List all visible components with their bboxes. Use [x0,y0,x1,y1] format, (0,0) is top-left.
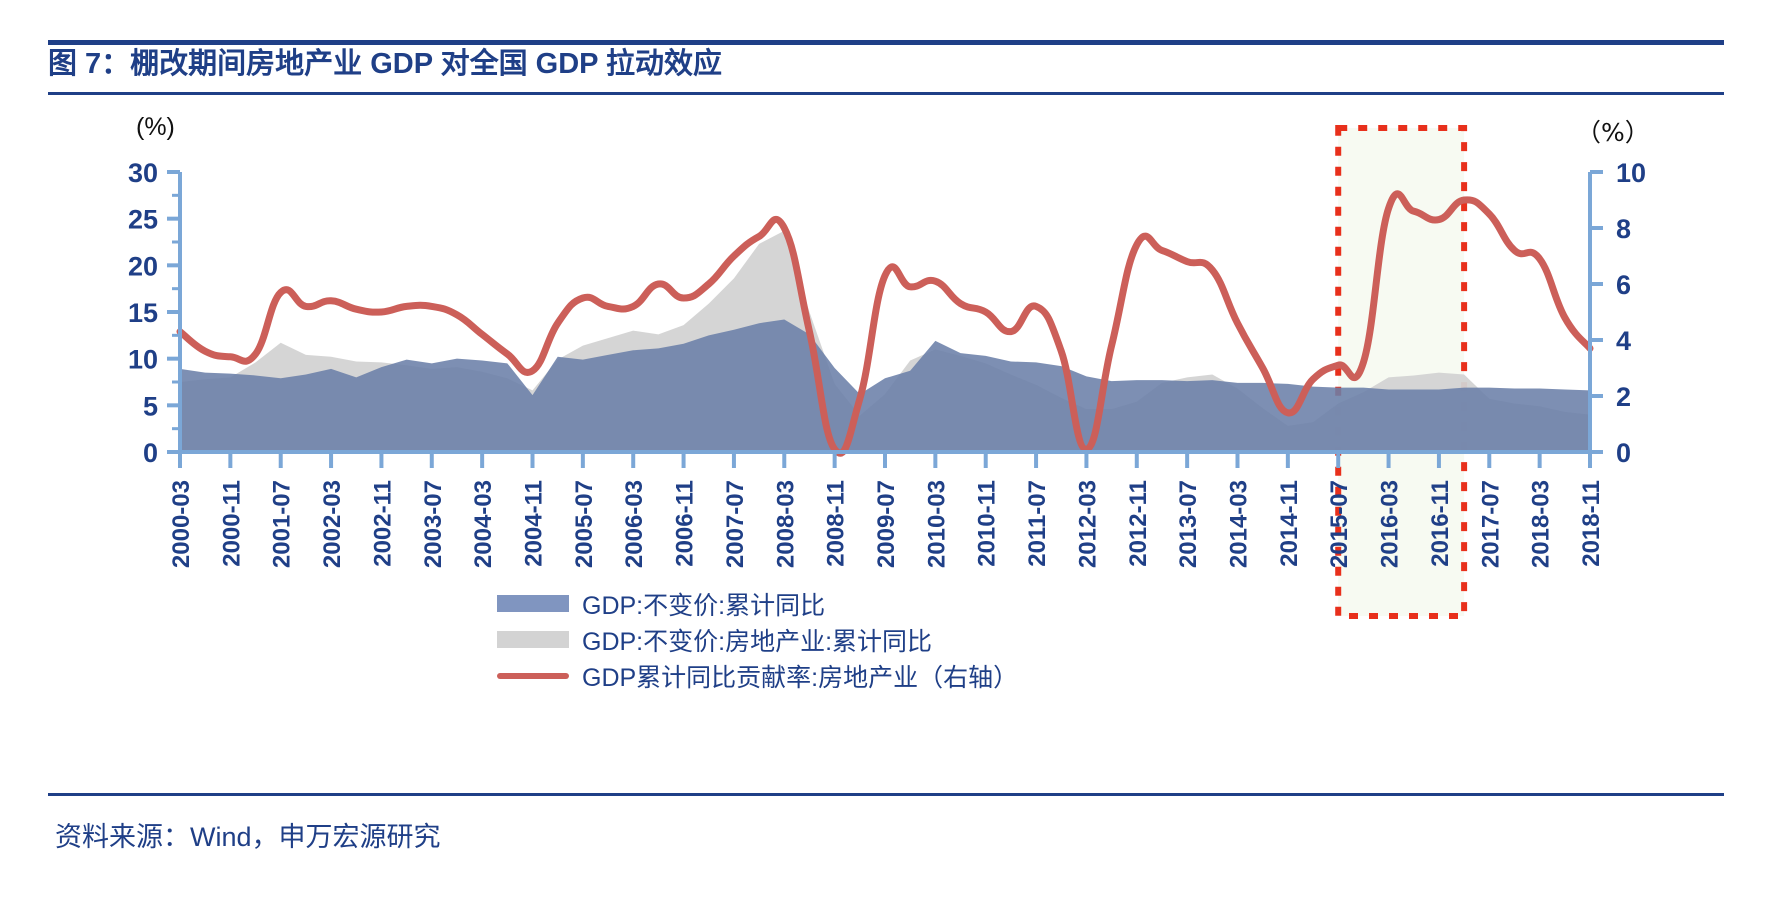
x-tick-label: 2016-11 [1427,480,1454,567]
y-tick-label: 20 [128,251,158,281]
y2-tick-label: 2 [1616,382,1631,412]
x-tick-label: 2011-07 [1024,480,1051,567]
y2-tick-label: 8 [1616,214,1631,244]
x-tick-label: 2008-11 [823,480,850,567]
x-tick-label: 2009-07 [873,480,900,568]
x-tick-label: 2012-11 [1125,480,1152,567]
x-tick-label: 2002-11 [369,480,396,567]
y2-tick-label: 10 [1616,158,1646,188]
x-tick-label: 2006-03 [621,480,648,568]
x-tick-label: 2000-11 [218,480,245,567]
x-tick-label: 2004-03 [470,480,497,568]
y2-tick-label: 6 [1616,270,1631,300]
legend-label-gdp: GDP:不变价:累计同比 [582,586,825,622]
y-tick-label: 15 [128,298,158,328]
chart-svg: 05101520253002468102000-032000-112001-07… [0,0,1772,906]
legend-item-gdp: GDP:不变价:累计同比 [497,587,1397,620]
x-tick-label: 2006-11 [672,480,699,567]
x-tick-label: 2005-07 [571,480,598,568]
x-tick-label: 2014-11 [1276,480,1303,567]
x-tick-label: 2002-03 [319,480,346,568]
chart-legend: GDP:不变价:累计同比 GDP:不变价:房地产业:累计同比 GDP累计同比贡献… [497,587,1397,695]
x-tick-label: 2010-03 [923,480,950,568]
y-tick-label: 0 [143,438,158,468]
x-tick-label: 2016-03 [1377,480,1404,568]
x-tick-label: 2018-03 [1528,480,1555,568]
legend-item-contribution: GDP累计同比贡献率:房地产业（右轴） [497,659,1397,692]
x-tick-label: 2003-07 [420,480,447,568]
y-tick-label: 25 [128,205,158,235]
x-tick-label: 2012-03 [1074,480,1101,568]
legend-swatch-contribution [497,673,569,679]
y-tick-label: 30 [128,158,158,188]
legend-label-contribution: GDP累计同比贡献率:房地产业（右轴） [582,658,1018,694]
x-tick-label: 2015-07 [1326,480,1353,568]
figure-page: 图 7：棚改期间房地产业 GDP 对全国 GDP 拉动效应 (%) （%） 05… [0,0,1772,906]
legend-item-realestate: GDP:不变价:房地产业:累计同比 [497,623,1397,656]
y-tick-label: 10 [128,345,158,375]
x-tick-label: 2007-07 [722,480,749,568]
x-tick-label: 2008-03 [772,480,799,568]
x-tick-label: 2014-03 [1226,480,1253,568]
x-tick-label: 2001-07 [269,480,296,568]
y2-tick-label: 0 [1616,438,1631,468]
x-tick-label: 2000-03 [168,480,195,568]
y2-tick-label: 4 [1616,326,1631,356]
x-tick-label: 2010-11 [974,480,1001,567]
source-note: 资料来源：Wind，申万宏源研究 [55,815,441,854]
legend-label-realestate: GDP:不变价:房地产业:累计同比 [582,622,932,658]
chart-plot-area: 05101520253002468102000-032000-112001-07… [0,0,1772,906]
y-tick-label: 5 [143,391,158,421]
x-tick-label: 2013-07 [1175,480,1202,568]
legend-swatch-gdp [497,595,569,612]
x-tick-label: 2017-07 [1477,480,1504,568]
x-tick-label: 2018-11 [1578,480,1605,567]
footer-rule [48,793,1724,796]
legend-swatch-realestate [497,631,569,648]
x-tick-label: 2004-11 [521,480,548,567]
